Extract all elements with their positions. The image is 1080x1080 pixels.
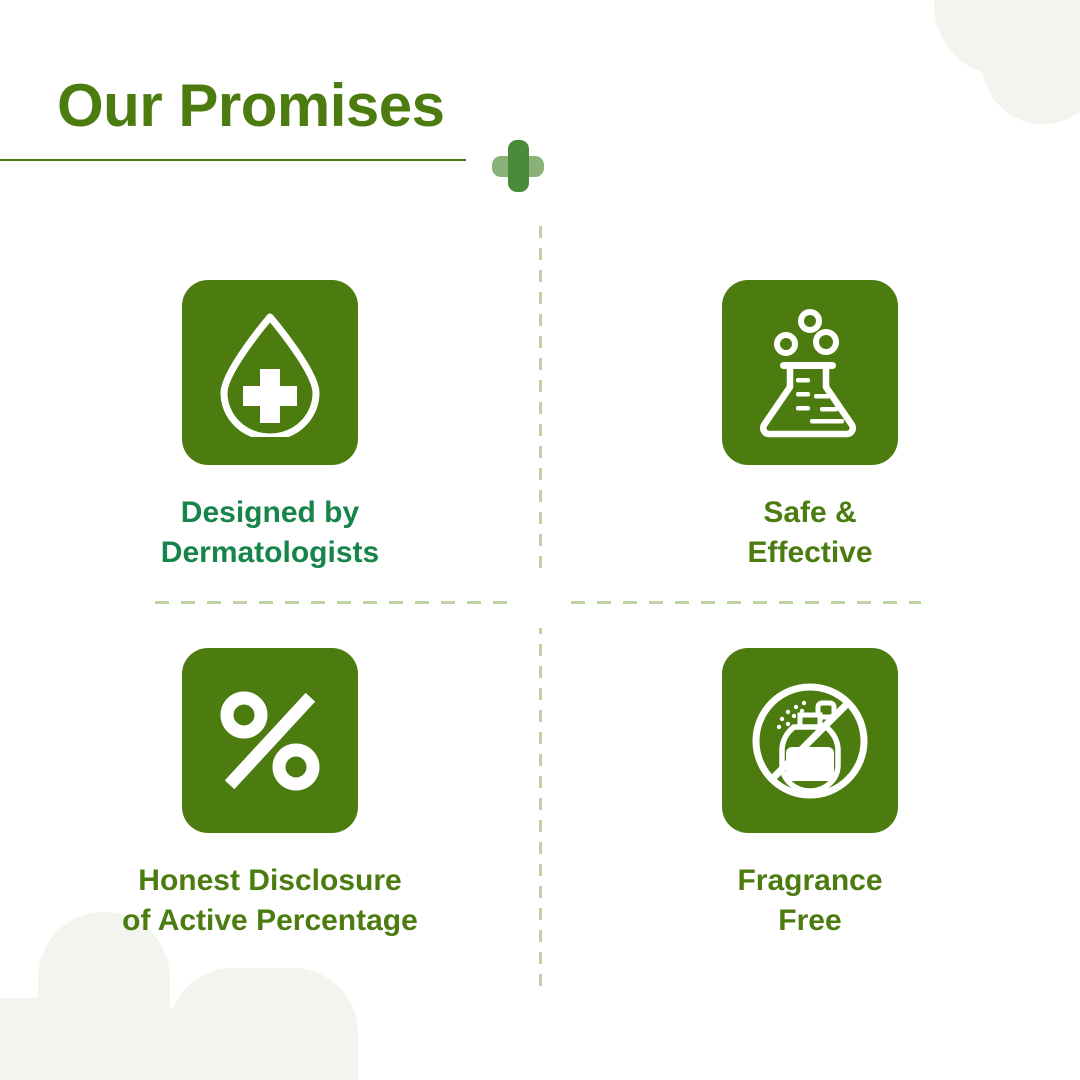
title-underline-rule — [0, 159, 466, 161]
icon-tile-flask — [722, 280, 898, 465]
page-title: Our Promises — [57, 76, 445, 136]
promise-label: Honest Disclosure of Active Percentage — [122, 861, 418, 941]
droplet-plus-icon — [212, 309, 328, 437]
cloud-blob-top-right-a — [934, 0, 1076, 76]
promise-label: Fragrance Free — [737, 861, 882, 941]
no-fragrance-bottle-icon — [748, 679, 872, 803]
promise-grid: Designed by Dermatologists — [0, 240, 1080, 1020]
flask-bubbles-icon — [750, 308, 870, 438]
icon-tile-percent — [182, 648, 358, 833]
promise-label: Designed by Dermatologists — [161, 493, 379, 573]
icon-tile-no-fragrance — [722, 648, 898, 833]
plus-cross-vertical-bar — [508, 140, 529, 192]
icon-tile-droplet-plus — [182, 280, 358, 465]
cloud-blob-top-right-b — [982, 2, 1080, 124]
cloud-blob-top-right-c — [1000, 0, 1080, 50]
promise-item-designed-by-dermatologists: Designed by Dermatologists — [0, 240, 540, 600]
promise-item-safe-and-effective: Safe & Effective — [540, 240, 1080, 600]
plus-cross-icon — [492, 140, 544, 192]
percent-icon — [214, 685, 326, 797]
promise-item-fragrance-free: Fragrance Free — [540, 600, 1080, 960]
promise-label: Safe & Effective — [747, 493, 872, 573]
promise-item-honest-disclosure: Honest Disclosure of Active Percentage — [0, 600, 540, 960]
